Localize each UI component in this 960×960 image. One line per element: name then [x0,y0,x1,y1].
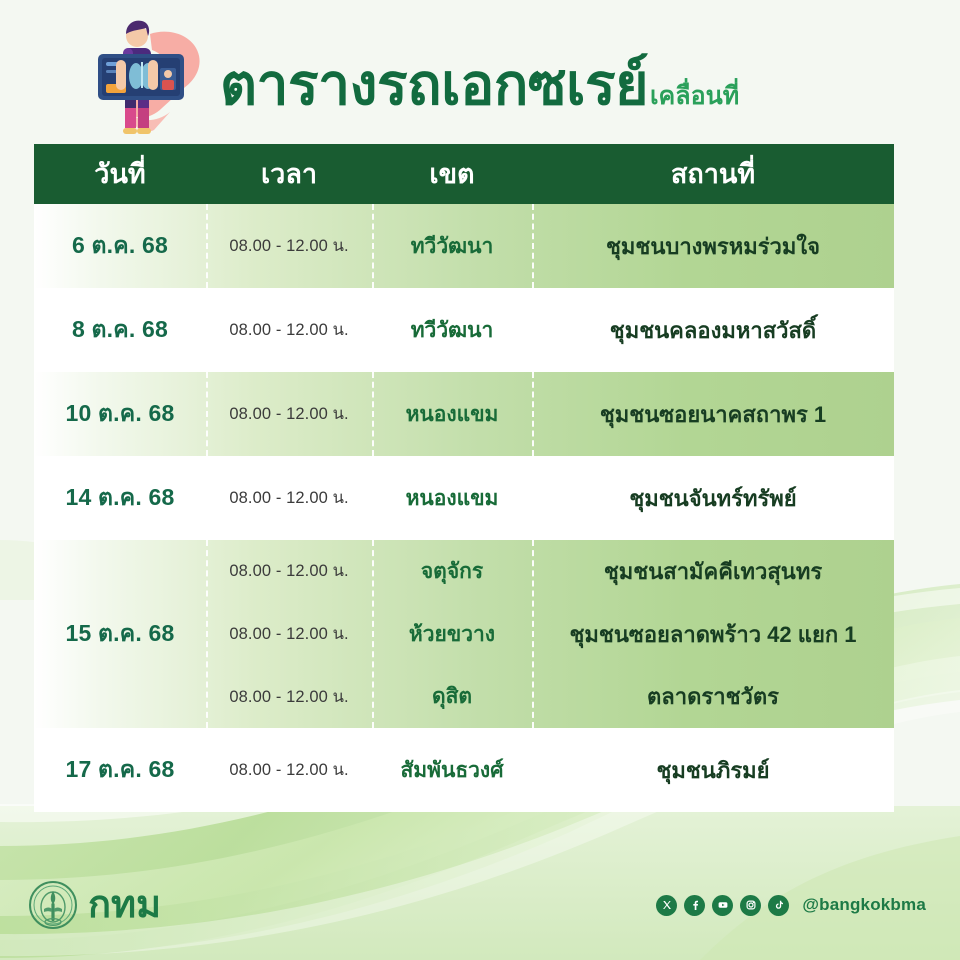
cell-district: หนองแขม [372,478,532,519]
table-row: 17 ต.ค. 6808.00 - 12.00 น.สัมพันธวงศ์ชุม… [34,728,894,812]
cell-time: 08.00 - 12.00 น. [206,617,372,651]
schedule-table: วันที่ เวลา เขต สถานที่ 6 ต.ค. 6808.00 -… [34,144,894,812]
cell-location: ชุมชนจันทร์ทรัพย์ [532,477,894,520]
row-entries: 08.00 - 12.00 น.จตุจักรชุมชนสามัคคีเทวสุ… [206,540,894,728]
cell-time: 08.00 - 12.00 น. [206,554,372,588]
cell-time: 08.00 - 12.00 น. [206,753,372,787]
table-row: 10 ต.ค. 6808.00 - 12.00 น.หนองแขมชุมชนซอ… [34,372,894,456]
tiktok-icon[interactable] [768,895,789,916]
table-row: 6 ต.ค. 6808.00 - 12.00 น.ทวีวัฒนาชุมชนบา… [34,204,894,288]
cell-time: 08.00 - 12.00 น. [206,229,372,263]
schedule-entry: 08.00 - 12.00 น.ห้วยขวางชุมชนซอยลาดพร้าว… [206,603,894,666]
schedule-entry: 08.00 - 12.00 น.ทวีวัฒนาชุมชนบางพรหมร่วม… [206,204,894,288]
youtube-icon[interactable] [712,895,733,916]
social-handle: @bangkokbma [802,895,926,915]
cell-location: ชุมชนภิรมย์ [532,749,894,792]
cell-district: ดุสิต [372,676,532,717]
page-footer: กทม [0,850,960,960]
cell-time: 08.00 - 12.00 น. [206,397,372,431]
row-entries: 08.00 - 12.00 น.หนองแขมชุมชนจันทร์ทรัพย์ [206,456,894,540]
cell-date: 17 ต.ค. 68 [34,728,206,812]
bma-seal-logo [28,877,78,933]
table-body: 6 ต.ค. 6808.00 - 12.00 น.ทวีวัฒนาชุมชนบา… [34,204,894,812]
column-header-time: เวลา [206,161,372,188]
cell-district: ห้วยขวาง [372,614,532,655]
cell-location: ชุมชนซอยลาดพร้าว 42 แยก 1 [532,613,894,656]
brand-block: กทม [28,877,161,933]
table-row: 15 ต.ค. 6808.00 - 12.00 น.จตุจักรชุมชนสา… [34,540,894,728]
social-links: @bangkokbma [656,895,926,916]
cell-location: ชุมชนบางพรหมร่วมใจ [532,225,894,268]
cell-district: จตุจักร [372,551,532,592]
instagram-icon[interactable] [740,895,761,916]
page-header: ตารางรถเอกซเรย์ เคลื่อนที่ [0,0,960,140]
column-header-date: วันที่ [34,161,206,188]
schedule-entry: 08.00 - 12.00 น.ดุสิตตลาดราชวัตร [206,665,894,728]
cell-date: 15 ต.ค. 68 [34,540,206,728]
person-holding-xray-screen-illustration [92,4,218,138]
cell-time: 08.00 - 12.00 น. [206,313,372,347]
cell-district: ทวีวัฒนา [372,226,532,267]
cell-location: ชุมชนคลองมหาสวัสดิ์ [532,309,894,352]
row-entries: 08.00 - 12.00 น.สัมพันธวงศ์ชุมชนภิรมย์ [206,728,894,812]
cell-date: 8 ต.ค. 68 [34,288,206,372]
cell-time: 08.00 - 12.00 น. [206,481,372,515]
column-header-location: สถานที่ [532,161,894,188]
table-header-row: วันที่ เวลา เขต สถานที่ [34,144,894,204]
facebook-icon[interactable] [684,895,705,916]
x-icon[interactable] [656,895,677,916]
cell-location: ชุมชนซอยนาคสถาพร 1 [532,393,894,436]
page-subtitle: เคลื่อนที่ [650,84,739,109]
page-title: ตารางรถเอกซเรย์ [220,57,648,114]
schedule-entry: 08.00 - 12.00 น.หนองแขมชุมชนจันทร์ทรัพย์ [206,456,894,540]
schedule-entry: 08.00 - 12.00 น.จตุจักรชุมชนสามัคคีเทวสุ… [206,540,894,603]
row-entries: 08.00 - 12.00 น.หนองแขมชุมชนซอยนาคสถาพร … [206,372,894,456]
cell-date: 6 ต.ค. 68 [34,204,206,288]
schedule-entry: 08.00 - 12.00 น.สัมพันธวงศ์ชุมชนภิรมย์ [206,728,894,812]
cell-district: สัมพันธวงศ์ [372,750,532,791]
cell-date: 10 ต.ค. 68 [34,372,206,456]
cell-district: ทวีวัฒนา [372,310,532,351]
schedule-entry: 08.00 - 12.00 น.หนองแขมชุมชนซอยนาคสถาพร … [206,372,894,456]
row-entries: 08.00 - 12.00 น.ทวีวัฒนาชุมชนคลองมหาสวัส… [206,288,894,372]
brand-name: กทม [88,886,161,924]
row-entries: 08.00 - 12.00 น.ทวีวัฒนาชุมชนบางพรหมร่วม… [206,204,894,288]
column-header-district: เขต [372,161,532,188]
cell-date: 14 ต.ค. 68 [34,456,206,540]
cell-district: หนองแขม [372,394,532,435]
schedule-entry: 08.00 - 12.00 น.ทวีวัฒนาชุมชนคลองมหาสวัส… [206,288,894,372]
cell-time: 08.00 - 12.00 น. [206,680,372,714]
table-row: 14 ต.ค. 6808.00 - 12.00 น.หนองแขมชุมชนจั… [34,456,894,540]
cell-location: ตลาดราชวัตร [532,675,894,718]
cell-location: ชุมชนสามัคคีเทวสุนทร [532,550,894,593]
title-block: ตารางรถเอกซเรย์ เคลื่อนที่ [220,57,739,114]
table-row: 8 ต.ค. 6808.00 - 12.00 น.ทวีวัฒนาชุมชนคล… [34,288,894,372]
